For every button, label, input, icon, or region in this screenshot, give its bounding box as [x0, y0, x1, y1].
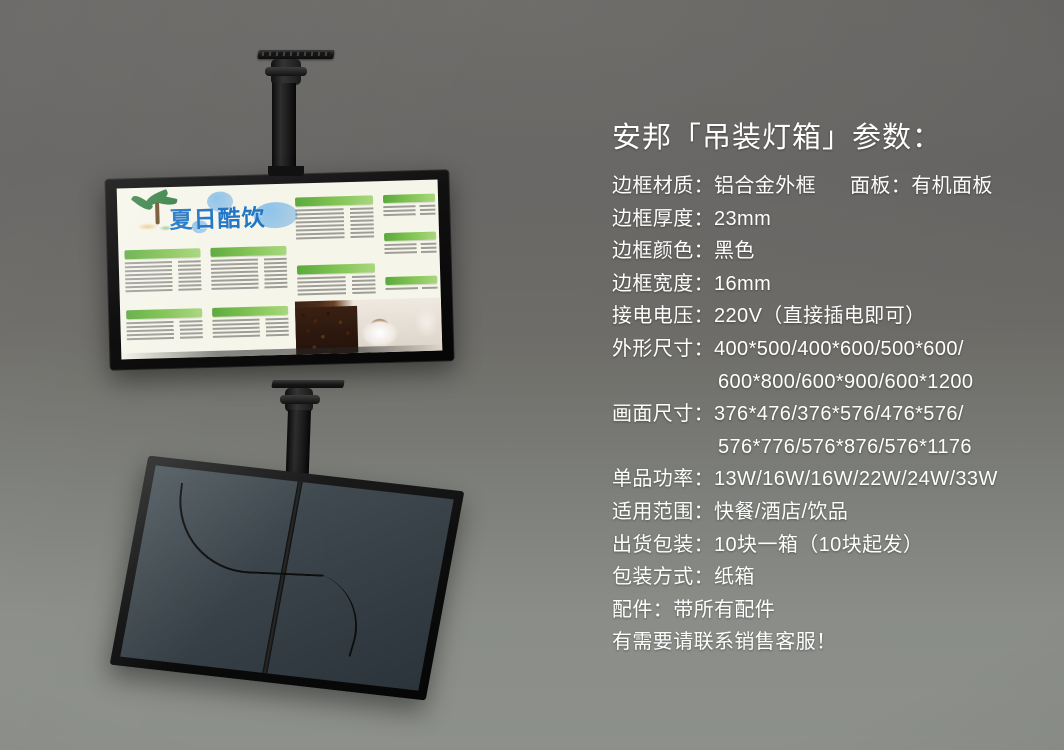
spec-value: 带所有配件 — [673, 599, 775, 621]
spec-value: 376*476/376*576/476*576/ — [714, 403, 964, 425]
spec-value: 10块一箱（10块起发） — [714, 534, 923, 556]
spec-value: 快餐/酒店/饮品 — [714, 501, 848, 523]
spec-line-voltage: 接电电压：220V（直接插电即可） — [612, 300, 1052, 333]
spec-value: 黑色 — [714, 240, 755, 262]
spec-label: 边框颜色： — [612, 240, 714, 262]
spec-value: 纸箱 — [714, 566, 755, 588]
spec-line-graphic-size: 画面尺寸：376*476/376*576/476*576/ — [612, 398, 1052, 431]
spec-label: 外形尺寸： — [612, 338, 714, 360]
spec-title: 安邦「吊装灯箱」参数： — [612, 118, 1052, 158]
spec-line-frame-color: 边框颜色：黑色 — [612, 235, 1052, 268]
spec-line-packaging: 包装方式：纸箱 — [612, 561, 1052, 594]
spec-value: 有需要请联系销售客服！ — [612, 631, 836, 653]
spec-value: 220V（直接插电即可） — [714, 305, 926, 327]
spec-line-accessories: 配件：带所有配件 — [612, 594, 1052, 627]
spec-value-panel: 有机面板 — [911, 175, 993, 197]
product-photo-scene: 夏日酷饮 — [0, 0, 1064, 750]
spec-line-contact-cta: 有需要请联系销售客服！ — [612, 626, 1052, 659]
spec-label: 包装方式： — [612, 566, 714, 588]
spec-value: 13W/16W/16W/22W/24W/33W — [714, 468, 998, 490]
spec-line-frame-material: 边框材质：铝合金外框面板：有机面板 — [612, 170, 1052, 203]
spec-line-frame-width: 边框宽度：16mm — [612, 268, 1052, 301]
spec-value: 600*800/600*900/600*1200 — [718, 371, 973, 393]
spec-label: 配件： — [612, 599, 673, 621]
spec-line-power: 单品功率：13W/16W/16W/22W/24W/33W — [612, 463, 1052, 496]
spec-label: 画面尺寸： — [612, 403, 714, 425]
spec-value: 铝合金外框 — [714, 175, 816, 197]
spec-line-frame-thickness: 边框厚度：23mm — [612, 203, 1052, 236]
spec-line-outer-size-cont: 600*800/600*900/600*1200 — [612, 366, 1052, 399]
spec-label: 边框宽度： — [612, 273, 714, 295]
spec-value: 576*776/576*876/576*1176 — [718, 436, 972, 458]
spec-label: 单品功率： — [612, 468, 714, 490]
spec-line-outer-size: 外形尺寸：400*500/400*600/500*600/ — [612, 333, 1052, 366]
spec-line-application: 适用范围：快餐/酒店/饮品 — [612, 496, 1052, 529]
spec-label: 边框材质： — [612, 175, 714, 197]
spec-label: 边框厚度： — [612, 208, 714, 230]
spec-value: 16mm — [714, 273, 771, 295]
spec-value: 400*500/400*600/500*600/ — [714, 338, 964, 360]
spec-line-graphic-size-cont: 576*776/576*876/576*1176 — [612, 431, 1052, 464]
spec-line-shipping-pack: 出货包装：10块一箱（10块起发） — [612, 529, 1052, 562]
spec-label: 适用范围： — [612, 501, 714, 523]
spec-value: 23mm — [714, 208, 771, 230]
spec-label: 出货包装： — [612, 534, 714, 556]
spec-panel: 安邦「吊装灯箱」参数： 边框材质：铝合金外框面板：有机面板 边框厚度：23mm … — [612, 118, 1052, 659]
spec-label-panel: 面板： — [850, 175, 911, 197]
spec-label: 接电电压： — [612, 305, 714, 327]
